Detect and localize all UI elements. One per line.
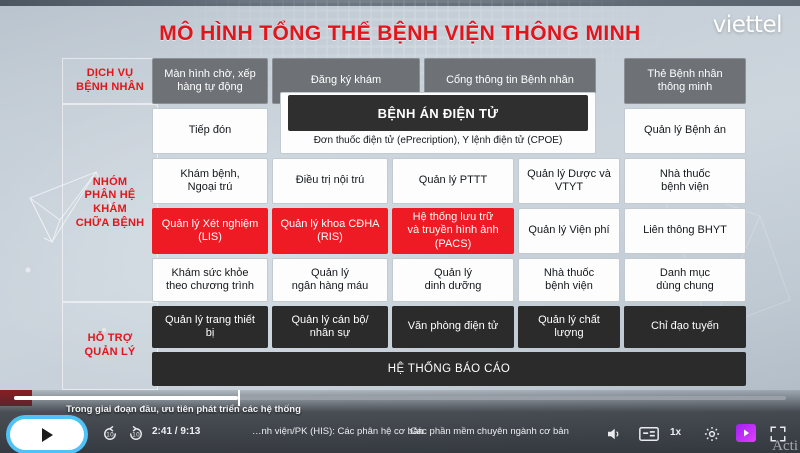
emr-banner-title: BỆNH ÁN ĐIỆN TỬ [288, 95, 588, 131]
cell-dieu-tri-noi-tru[interactable]: Điều trị nội trú [272, 158, 388, 204]
time-display: 2:41 / 9:13 [152, 426, 200, 437]
emr-block[interactable]: BỆNH ÁN ĐIỆN TỬ Đơn thuốc điện tử (ePrec… [280, 92, 596, 154]
cell-quan-ly-duoc-vtyt[interactable]: Quản lý Dược vàVTYT [518, 158, 620, 204]
play-icon [42, 428, 53, 442]
cell-the-benh-nhan-thong-minh[interactable]: Thẻ Bệnh nhânthông minh [624, 58, 746, 104]
legend-item-2-label: Các phần mềm chuyên ngành cơ bản [410, 426, 569, 437]
cell-quan-ly-can-bo-nhan-su[interactable]: Quản lý cán bộ/nhân sự [272, 306, 388, 348]
cell-quan-ly-dinh-duong[interactable]: Quản lýdinh dưỡng [392, 258, 514, 302]
cell-kham-benh-ngoai-tru[interactable]: Khám bệnh,Ngoại trú [152, 158, 268, 204]
svg-text:10: 10 [106, 432, 114, 439]
forward-10-icon[interactable]: 10 [126, 424, 146, 444]
captions-icon[interactable] [638, 424, 660, 444]
cast-icon[interactable] [736, 424, 756, 442]
cell-nha-thuoc-benh-vien-1[interactable]: Nhà thuốcbệnh viện [624, 158, 746, 204]
cell-lien-thong-bhyt[interactable]: Liên thông BHYT [624, 208, 746, 254]
cell-quan-ly-chat-luong[interactable]: Quản lý chất lượng [518, 306, 620, 348]
legend-item-1-label: …nh viện/PK (HIS): Các phân hệ cơ bản [252, 426, 424, 437]
cell-van-phong-dien-tu[interactable]: Văn phòng điện tử [392, 306, 514, 348]
cell-quan-ly-trang-thiet-bi[interactable]: Quản lý trang thiếtbị [152, 306, 268, 348]
seek-bar[interactable] [14, 396, 786, 400]
screen-watermark: Acti [772, 438, 798, 453]
report-system-bar[interactable]: HỆ THỐNG BÁO CÁO [152, 352, 746, 386]
cell-he-thong-luu-tru-pacs[interactable]: Hệ thống lưu trữvà truyền hình ảnh(PACS) [392, 208, 514, 254]
svg-text:10: 10 [132, 432, 140, 439]
cell-man-hinh-cho[interactable]: Màn hình chờ, xếphàng tự động [152, 58, 268, 104]
group-label-ho-tro-quan-ly: HỖ TRỢQUẢN LÝ [62, 302, 158, 390]
seek-thumb[interactable] [238, 390, 240, 406]
cell-chi-dao-tuyen[interactable]: Chỉ đạo tuyến [624, 306, 746, 348]
cell-tiep-don[interactable]: Tiếp đón [152, 108, 268, 154]
cell-quan-ly-ngan-hang-mau[interactable]: Quản lýngân hàng máu [272, 258, 388, 302]
page-title: MÔ HÌNH TỔNG THỂ BỆNH VIỆN THÔNG MINH [0, 22, 800, 46]
gear-icon[interactable] [702, 424, 722, 444]
group-label-dich-vu-benh-nhan: DỊCH VỤBỆNH NHÂN [62, 58, 158, 104]
volume-icon[interactable] [604, 424, 624, 444]
cell-quan-ly-xet-nghiem-lis[interactable]: Quản lý Xét nghiệm(LIS) [152, 208, 268, 254]
slide-note-text: Trong giai đoạn đầu, ưu tiên phát triển … [66, 404, 301, 415]
top-strip [0, 0, 800, 6]
playback-speed-button[interactable]: 1x [670, 427, 681, 438]
viettel-logo: viettel [713, 12, 782, 38]
replay-10-icon[interactable]: 10 [100, 424, 120, 444]
group-label-text: HỖ TRỢQUẢN LÝ [85, 332, 136, 360]
seek-progress-fill [14, 396, 238, 400]
cell-quan-ly-khoa-cdha-ris[interactable]: Quản lý khoa CĐHA(RIS) [272, 208, 388, 254]
cell-nha-thuoc-benh-vien-2[interactable]: Nhà thuốcbệnh viện [518, 258, 620, 302]
group-label-text: DỊCH VỤBỆNH NHÂN [76, 67, 144, 95]
group-label-text: NHÓMPHÂN HỆKHÁMCHỮA BỆNH [76, 176, 145, 231]
group-label-nhom-phan-he-kham-chua-benh: NHÓMPHÂN HỆKHÁMCHỮA BỆNH [62, 104, 158, 302]
cell-quan-ly-vien-phi[interactable]: Quản lý Viện phí [518, 208, 620, 254]
cell-quan-ly-pttt[interactable]: Quản lý PTTT [392, 158, 514, 204]
cell-danh-muc-dung-chung[interactable]: Danh mụcdùng chung [624, 258, 746, 302]
video-slide-stage: MÔ HÌNH TỔNG THỂ BỆNH VIỆN THÔNG MINH vi… [0, 0, 800, 453]
cell-quan-ly-benh-an[interactable]: Quản lý Bệnh án [624, 108, 746, 154]
video-player-controls: Trong giai đoạn đầu, ưu tiên phát triển … [0, 390, 800, 453]
cell-kham-suc-khoe-theo-chuong-trinh[interactable]: Khám sức khỏetheo chương trình [152, 258, 268, 302]
emr-subtitle: Đơn thuốc điện tử (ePrecription), Y lệnh… [314, 135, 563, 146]
play-button[interactable] [10, 419, 84, 450]
